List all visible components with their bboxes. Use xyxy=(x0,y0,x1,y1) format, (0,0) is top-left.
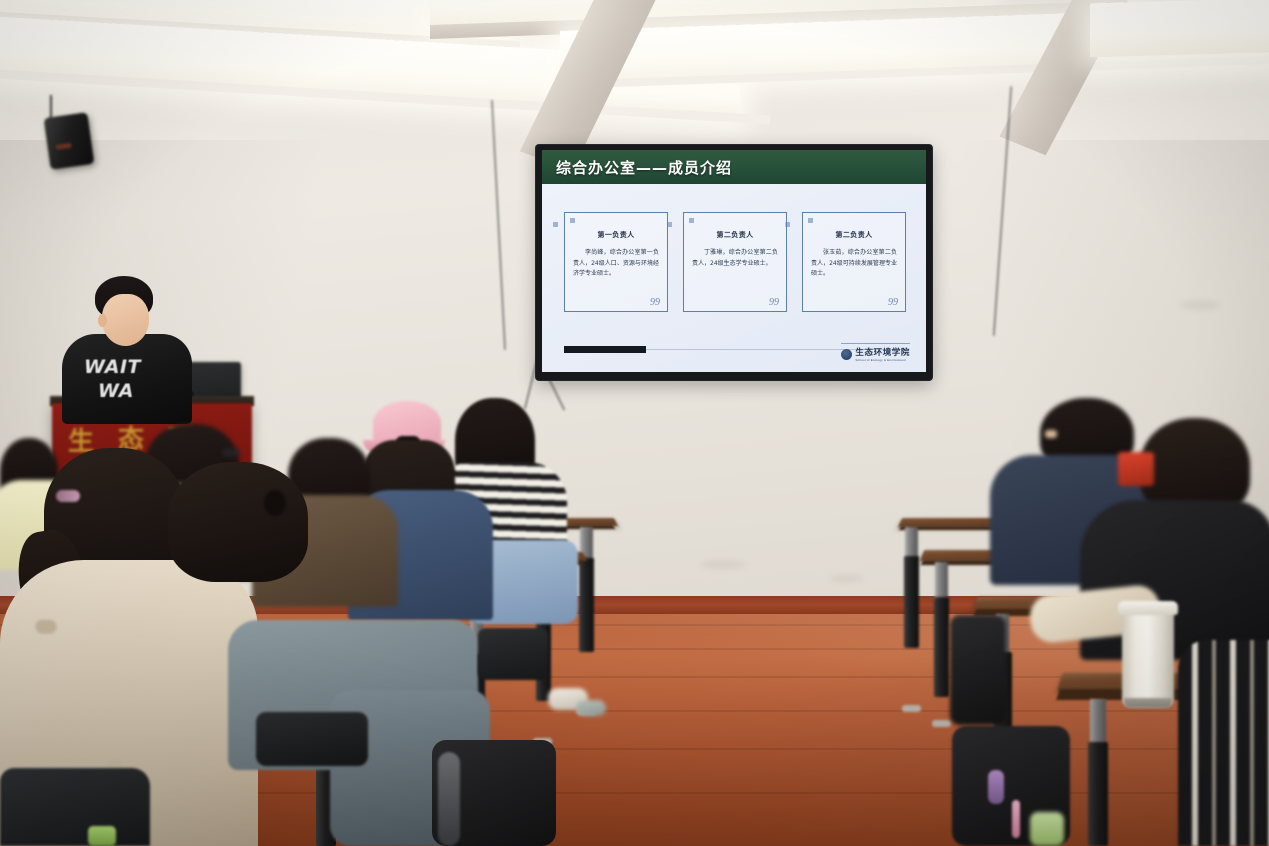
chair-back xyxy=(256,712,368,766)
desk-leg xyxy=(1088,742,1108,846)
slide-card-row: 第一负责人 李尚峰，综合办公室第一负责人，24级人口、资源与环境经济学专业硕士。… xyxy=(564,212,906,312)
logo-emblem-icon xyxy=(841,349,852,360)
water-bottle xyxy=(1030,812,1064,846)
travel-mug-lid xyxy=(1118,601,1178,615)
quote-mark-icon: 99 xyxy=(769,297,779,308)
classroom-photo: 综合办公室——成员介绍 第一负责人 李尚峰，综合办公室第一负责人，24级人口、资… xyxy=(0,0,1269,846)
member-card-heading: 第一负责人 xyxy=(565,230,667,240)
desk-foot xyxy=(932,720,951,727)
travel-mug-base xyxy=(1124,698,1172,708)
chair-back xyxy=(478,628,548,680)
quote-mark-icon: 99 xyxy=(650,297,660,308)
member-card: 第一负责人 李尚峰，综合办公室第一负责人，24级人口、资源与环境经济学专业硕士。… xyxy=(564,212,668,312)
ceiling-light-panel xyxy=(1090,0,1269,57)
hair-tie xyxy=(56,490,80,502)
coat-button xyxy=(36,620,56,632)
slide-title: 综合办公室——成员介绍 xyxy=(556,157,732,178)
green-item xyxy=(88,826,116,846)
backpack xyxy=(950,615,1006,725)
backpack-strap xyxy=(438,752,460,846)
speaker-driver-icon xyxy=(55,143,72,150)
pen xyxy=(1012,800,1020,838)
member-card: 第二负责人 丁雅琳，综合办公室第二负责人，24级生态学专业硕士。 99 xyxy=(683,212,787,312)
shirt-text-line2: WA xyxy=(98,380,134,402)
logo-text-en: School of Ecology & Environment xyxy=(855,358,910,362)
presenter-face xyxy=(102,294,149,346)
backpack-charm xyxy=(988,770,1004,804)
member-card-body: 丁雅琳，综合办公室第二负责人，24级生态学专业硕士。 xyxy=(692,248,778,269)
wall-mark xyxy=(1180,300,1220,310)
member-card-heading: 第二负责人 xyxy=(684,230,786,240)
member-card-body: 张玉茹，综合办公室第二负责人，24级可持续发展管理专业硕士。 xyxy=(811,248,897,280)
card-corner-square xyxy=(689,218,694,223)
student-ear xyxy=(1045,430,1057,438)
presenter-torso xyxy=(62,334,192,424)
presentation-screen[interactable]: 综合办公室——成员介绍 第一负责人 李尚峰，综合办公室第一负责人，24级人口、资… xyxy=(542,150,926,372)
desk-leg xyxy=(905,527,918,559)
presenter: WAIT WA xyxy=(62,276,192,421)
slide-bullet-square xyxy=(553,222,558,227)
desk-leg xyxy=(904,556,919,648)
desk-leg xyxy=(1090,699,1106,745)
eyeglasses xyxy=(222,448,240,457)
wall-mark xyxy=(830,575,864,582)
ceiling xyxy=(0,0,1269,160)
student-plaid-coat xyxy=(1178,640,1269,846)
member-card-heading: 第二负责人 xyxy=(803,230,905,240)
desk-leg xyxy=(579,558,594,652)
logo-text-cn: 生态环境学院 xyxy=(855,346,910,358)
chair-back xyxy=(0,768,150,846)
slide-body: 第一负责人 李尚峰，综合办公室第一负责人，24级人口、资源与环境经济学专业硕士。… xyxy=(542,184,926,372)
presenter-ear xyxy=(98,314,107,327)
desk-foot xyxy=(902,705,921,712)
quote-mark-icon: 99 xyxy=(888,297,898,308)
desk-leg xyxy=(934,597,949,697)
institution-logo: 生态环境学院 School of Ecology & Environment xyxy=(841,343,910,362)
wall-mark xyxy=(700,560,746,569)
slide-progress-fill xyxy=(564,346,646,353)
shoe xyxy=(576,700,606,716)
travel-mug xyxy=(1122,607,1174,707)
red-item xyxy=(1118,452,1154,486)
card-corner-square xyxy=(570,218,575,223)
desk-leg xyxy=(935,562,948,600)
student-hair-bun xyxy=(264,490,286,516)
slide-title-bar: 综合办公室——成员介绍 xyxy=(542,150,926,184)
member-card: 第二负责人 张玉茹，综合办公室第二负责人，24级可持续发展管理专业硕士。 99 xyxy=(802,212,906,312)
shirt-text-line1: WAIT xyxy=(84,356,141,378)
wall-speaker xyxy=(44,112,95,170)
card-corner-square xyxy=(808,218,813,223)
member-card-body: 李尚峰，综合办公室第一负责人，24级人口、资源与环境经济学专业硕士。 xyxy=(573,248,659,280)
